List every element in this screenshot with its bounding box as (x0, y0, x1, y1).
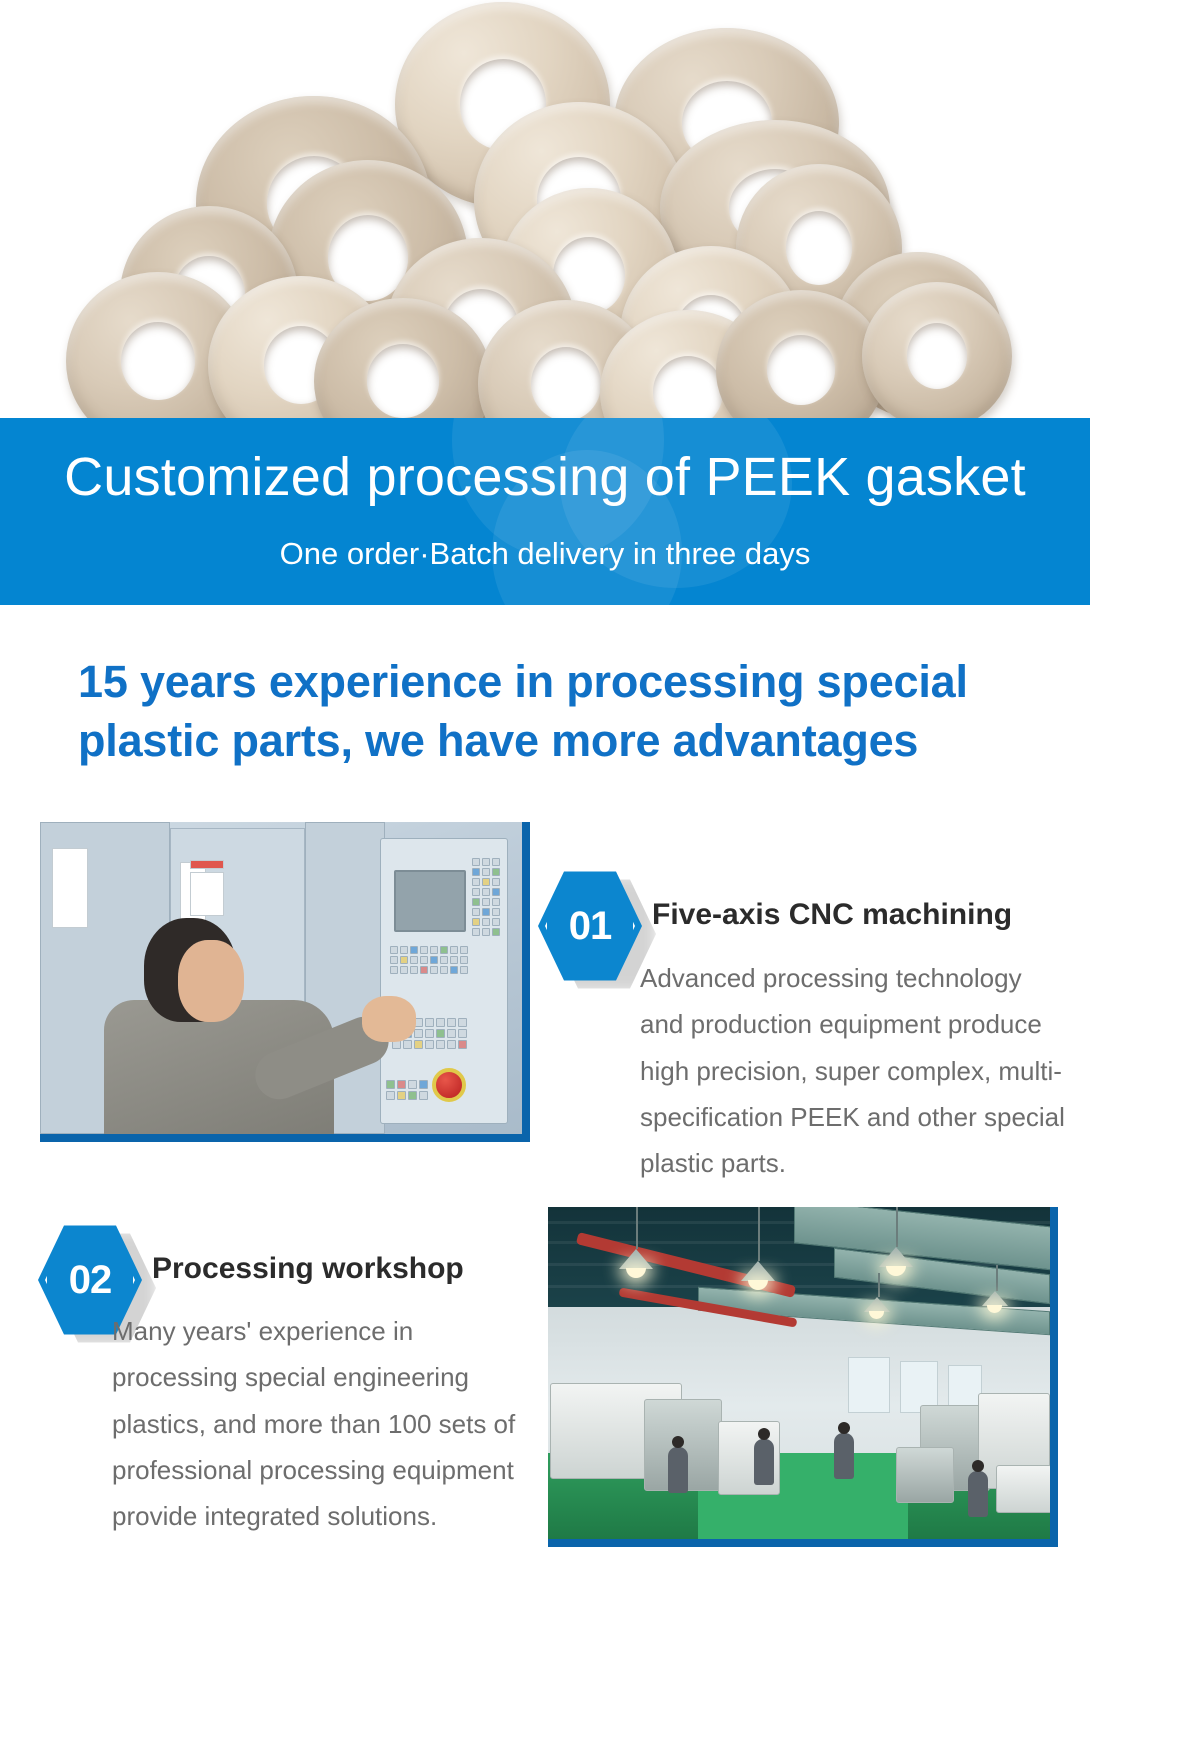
feature-01-body: Advanced processing technology and produ… (640, 955, 1070, 1186)
feature-02-title: Processing workshop (152, 1254, 464, 1284)
gasket-ring-stack (0, 0, 1090, 470)
cnc-machine-image (40, 822, 522, 1134)
feature-02-number: 02 (69, 1260, 112, 1300)
feature-02-body: Many years' experience in processing spe… (112, 1308, 522, 1539)
gasket-ring (862, 282, 1012, 430)
banner-title: Customized processing of PEEK gasket (0, 418, 1090, 504)
headline-line-2: plastic parts, we have more advantages (78, 711, 1068, 770)
title-banner: Customized processing of PEEK gasket One… (0, 418, 1090, 605)
feature-01-number: 01 (569, 906, 612, 946)
feature-02-photo (548, 1207, 1058, 1547)
banner-subtitle: One order·Batch delivery in three days (0, 504, 1090, 569)
feature-01-title: Five-axis CNC machining (652, 900, 1012, 930)
product-detail-page: Customized processing of PEEK gasket One… (0, 0, 1200, 1748)
section-headline: 15 years experience in processing specia… (78, 652, 1068, 771)
hero-product-photo (0, 0, 1090, 470)
workshop-image (548, 1207, 1050, 1539)
headline-line-1: 15 years experience in processing specia… (78, 652, 1068, 711)
feature-01-photo (40, 822, 530, 1142)
feature-01-badge: 01 (538, 868, 642, 984)
